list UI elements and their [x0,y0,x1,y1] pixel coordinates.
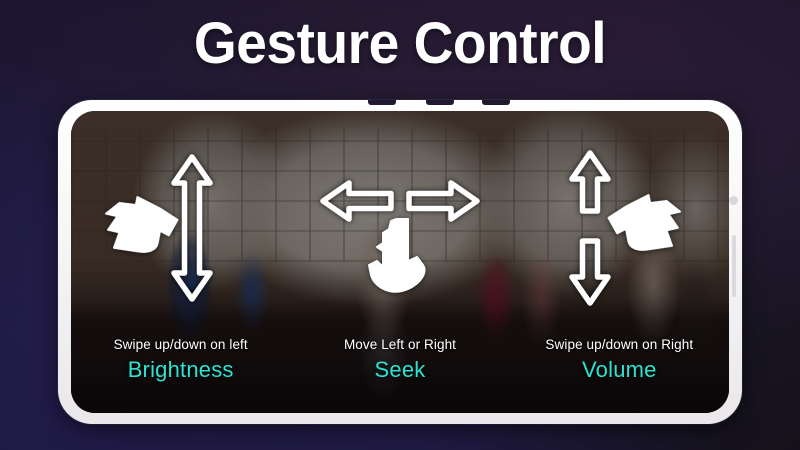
horizontal-double-arrow-icon [315,145,485,313]
phone-top-notch-center [426,100,454,105]
phone-top-notch-right [482,100,510,105]
up-arrow-and-down-arrow-icon [544,145,694,313]
brightness-gesture-art [71,145,290,310]
hand-pointer-down-left-icon [101,188,184,262]
seek-instruction: Move Left or Right [290,337,509,354]
gesture-zones: Swipe up/down on left Brightness [71,111,729,413]
video-player-screen[interactable]: Swipe up/down on left Brightness [71,111,729,413]
volume-gesture-art [510,145,729,310]
hand-pointer-down-right-icon [602,186,685,260]
volume-action: Volume [510,357,729,383]
phone-side-button [732,235,736,297]
phone-mockup: Swipe up/down on left Brightness [58,100,742,424]
phone-top-notch-left [368,100,396,105]
volume-instruction: Swipe up/down on Right [510,337,729,354]
page-title: Gesture Control [20,13,780,76]
seek-gesture-art [290,145,509,310]
seek-labels: Move Left or Right Seek [290,337,509,383]
seek-action: Seek [290,357,509,383]
gesture-zone-seek[interactable]: Move Left or Right Seek [290,111,509,413]
brightness-instruction: Swipe up/down on left [71,337,290,354]
gesture-zone-volume[interactable]: Swipe up/down on Right Volume [510,111,729,413]
vertical-double-arrow-icon [106,145,256,313]
brightness-action: Brightness [71,357,290,383]
phone-camera-icon [729,196,738,205]
gesture-zone-brightness[interactable]: Swipe up/down on left Brightness [71,111,290,413]
brightness-labels: Swipe up/down on left Brightness [71,337,290,383]
volume-labels: Swipe up/down on Right Volume [510,337,729,383]
hand-pointer-down-icon [369,219,425,292]
